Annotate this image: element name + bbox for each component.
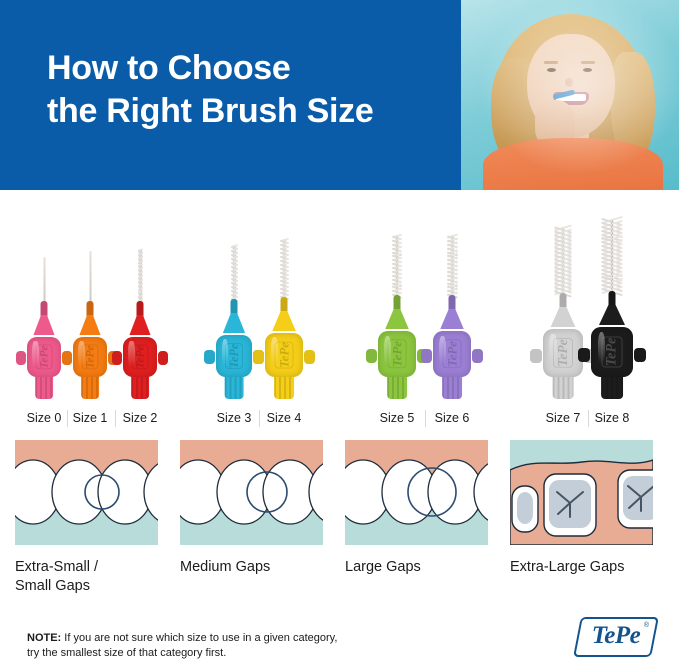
- brush-wing-right: [158, 351, 168, 365]
- brush-size-6: TePe: [414, 199, 490, 399]
- brush-foot: [442, 377, 462, 399]
- size-label-size-6: Size 6: [417, 407, 487, 429]
- brush-bristle: [138, 249, 143, 303]
- size-label-row: Size 0Size 1Size 2Size 3Size 4Size 5Size…: [0, 407, 679, 437]
- brush-cone: [223, 313, 245, 333]
- gap-panel-medium-gaps: [180, 440, 323, 545]
- brush-size-8: TePe: [570, 199, 654, 399]
- brush-wing-left: [421, 349, 432, 363]
- header-banner: How to Choose the Right Brush Size: [0, 0, 679, 192]
- brush-bristle: [280, 239, 289, 299]
- brush-foot: [81, 377, 99, 399]
- brush-bristle: [231, 245, 238, 301]
- brush-wing-left: [253, 350, 264, 364]
- brush-neck: [449, 295, 456, 311]
- brush-neck: [394, 295, 401, 311]
- gap-diagram: [15, 440, 158, 545]
- brush-foot: [387, 377, 407, 399]
- brush-highlight: [271, 337, 278, 365]
- brush-foot: [601, 377, 623, 399]
- brush-body: TePe: [73, 337, 107, 377]
- brush-highlight: [549, 334, 556, 365]
- brush-cone: [599, 305, 625, 325]
- brush-neck: [609, 291, 616, 307]
- brush-wing-left: [366, 349, 377, 363]
- brush-bristle: [392, 235, 402, 297]
- title-line-2: the Right Brush Size: [47, 90, 447, 133]
- brush-wire: [43, 257, 45, 303]
- brush-row: TePeTePeTePeTePeTePeTePeTePeTePeTePe: [0, 192, 679, 407]
- gap-caption-line-1: Extra-Large Gaps: [510, 558, 670, 577]
- brush-wing-right: [472, 349, 483, 363]
- brush-highlight: [78, 341, 84, 367]
- brush-wing-left: [62, 351, 72, 365]
- photo-vignette: [461, 0, 679, 190]
- footnote-line-1: If you are not sure which size to use in…: [61, 632, 337, 644]
- hero-photo: [461, 0, 679, 190]
- brush-foot: [35, 377, 53, 399]
- brush-highlight: [128, 341, 134, 367]
- brush-size-4: TePe: [246, 199, 322, 399]
- gap-diagram: [180, 440, 323, 545]
- brush-neck: [281, 297, 288, 313]
- size-label-size-4: Size 4: [249, 407, 319, 429]
- brush-body: TePe: [265, 333, 303, 377]
- brush-wire: [89, 251, 91, 303]
- molar-cusp: [517, 492, 533, 524]
- brush-bristle: [43, 257, 46, 303]
- brush-body: TePe: [433, 331, 471, 377]
- gap-caption: Extra-Small /Small Gaps: [15, 558, 175, 596]
- brush-cone: [33, 315, 54, 335]
- brush-cone: [79, 315, 100, 335]
- brush-wing-right: [304, 350, 315, 364]
- gap-caption-line-1: Large Gaps: [345, 558, 505, 577]
- page-title: How to Choose the Right Brush Size: [47, 47, 447, 133]
- brush-foot: [274, 377, 294, 399]
- brush-wing-left: [112, 351, 122, 365]
- footnote: NOTE: If you are not sure which size to …: [27, 631, 447, 661]
- brush-neck: [41, 301, 48, 317]
- brush-highlight: [439, 336, 446, 365]
- gap-diagram: [510, 440, 653, 545]
- gap-caption-line-1: Extra-Small /: [15, 558, 175, 577]
- gap-panel-large-gaps: [345, 440, 488, 545]
- brush-highlight: [598, 332, 606, 364]
- gap-diagram: [345, 440, 488, 545]
- gap-caption: Extra-Large Gaps: [510, 558, 670, 577]
- brush-foot: [131, 377, 149, 399]
- brush-bristle: [601, 219, 623, 293]
- brush-wing-left: [530, 349, 542, 363]
- footnote-prefix: NOTE:: [27, 632, 61, 644]
- gap-caption: Medium Gaps: [180, 558, 340, 577]
- molar-cusp: [623, 476, 653, 520]
- brush-neck: [137, 301, 144, 317]
- brush-cone: [272, 311, 296, 331]
- brush-foot: [225, 377, 244, 399]
- gap-caption-line-1: Medium Gaps: [180, 558, 340, 577]
- brush-body: TePe: [378, 331, 416, 377]
- brush-wing-left: [578, 348, 591, 362]
- brush-wing-right: [634, 348, 647, 362]
- brush-bristle: [89, 251, 92, 303]
- brush-cone: [129, 315, 150, 335]
- infographic-page: How to Choose the Right Brush Size TePeT…: [0, 0, 679, 667]
- footnote-line-2: try the smallest size of that category f…: [27, 647, 226, 659]
- brush-wing-left: [204, 350, 215, 364]
- brush-cone: [440, 309, 464, 329]
- registered-trademark-icon: ®: [644, 622, 649, 629]
- brush-highlight: [384, 336, 391, 365]
- size-label-size-8: Size 8: [577, 407, 647, 429]
- gap-panel-extra-small-small-gaps: [15, 440, 158, 545]
- gap-diagram-row: Extra-Small /Small GapsMedium GapsLarge …: [0, 440, 679, 610]
- brush-neck: [231, 299, 238, 315]
- brush-wing-left: [16, 351, 26, 365]
- brush-highlight: [222, 339, 228, 366]
- brush-body: TePe: [591, 327, 633, 377]
- gap-panel-extra-large-gaps: [510, 440, 653, 545]
- gap-caption-line-2: Small Gaps: [15, 577, 175, 596]
- size-label-size-2: Size 2: [105, 407, 175, 429]
- gap-caption: Large Gaps: [345, 558, 505, 577]
- brush-neck: [87, 301, 94, 317]
- brush-neck: [560, 293, 567, 309]
- brush-body: TePe: [123, 337, 157, 377]
- brush-size-2: TePe: [106, 199, 174, 399]
- brush-cone: [385, 309, 409, 329]
- brush-highlight: [32, 341, 38, 367]
- title-line-1: How to Choose: [47, 49, 291, 87]
- tepe-logo: TePe ®: [577, 617, 655, 657]
- brush-bristle: [447, 235, 458, 297]
